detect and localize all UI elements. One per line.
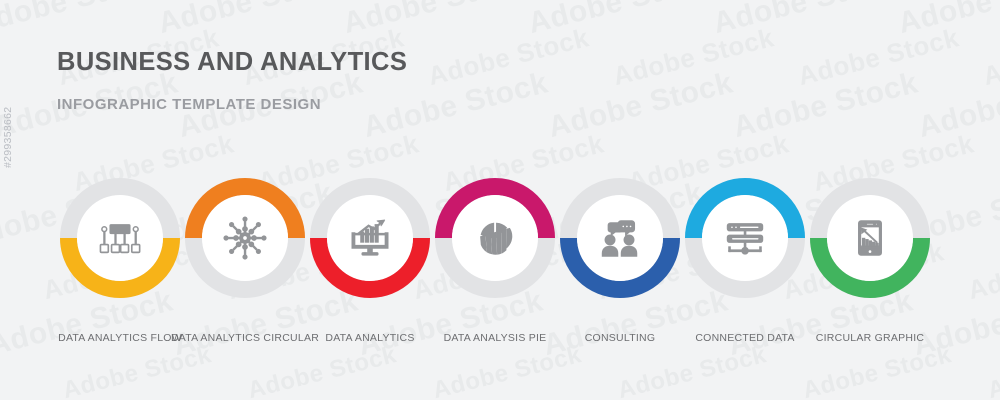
data-analytics-circular-icon [224, 217, 266, 259]
step-label-7: CIRCULAR GRAPHIC [816, 332, 924, 344]
circular-graphic-mobile-icon [859, 221, 882, 256]
page-title: BUSINESS AND ANALYTICS [57, 48, 407, 76]
step-label-3: DATA ANALYTICS [325, 332, 414, 344]
step-label-2: DATA ANALYTICS CIRCULAR [171, 332, 319, 344]
step-label-6: CONNECTED DATA [695, 332, 794, 344]
step-circle-7[interactable] [827, 195, 913, 281]
step-disc [577, 195, 663, 281]
page-subtitle: INFOGRAPHIC TEMPLATE DESIGN [57, 96, 407, 113]
header: BUSINESS AND ANALYTICS INFOGRAPHIC TEMPL… [57, 48, 407, 113]
step-circle-5[interactable] [577, 195, 663, 281]
step-circle-6[interactable] [702, 195, 788, 281]
step-circle-4[interactable] [452, 195, 538, 281]
connected-data-server-icon [727, 224, 762, 254]
step-disc [77, 195, 163, 281]
step-label-5: CONSULTING [585, 332, 656, 344]
step-circle-3[interactable] [327, 195, 413, 281]
step-label-4: DATA ANALYSIS PIE [444, 332, 547, 344]
step-circle-2[interactable] [202, 195, 288, 281]
step-circle-1[interactable] [77, 195, 163, 281]
step-label-1: DATA ANALYTICS FLOW [58, 332, 182, 344]
step-labels: DATA ANALYTICS FLOWDATA ANALYTICS CIRCUL… [0, 332, 1000, 354]
